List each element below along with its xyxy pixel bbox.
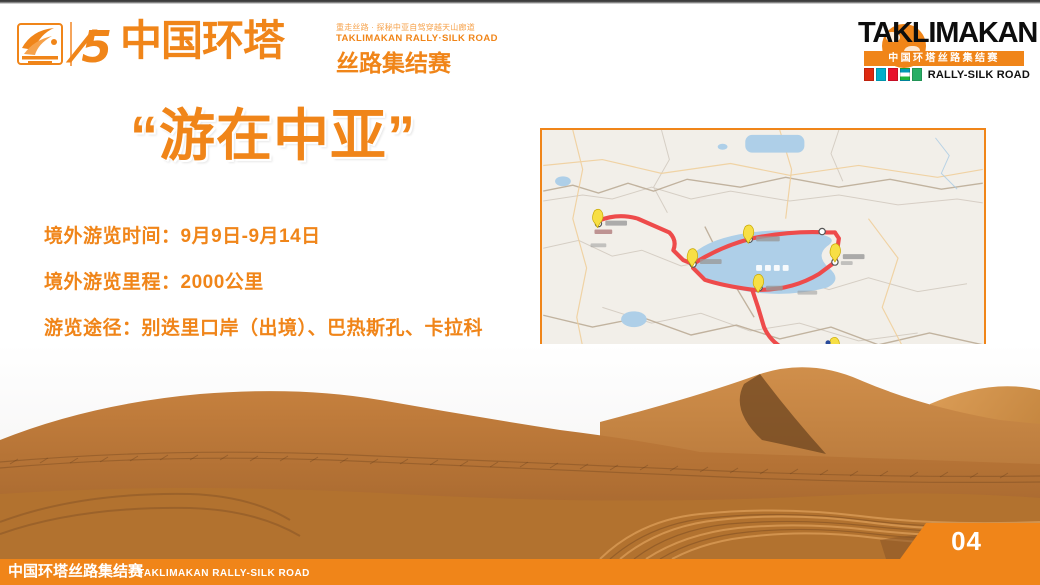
info-line-tour-distance: 境外游览里程：2000公里 bbox=[44, 260, 514, 306]
info-line-tour-dates: 境外游览时间：9月9日-9月14日 bbox=[44, 214, 514, 260]
page-title: “游在中亚” bbox=[130, 104, 416, 168]
slide-footer: 中国环塔丝路集结赛 TAKLIMAKAN RALLY-SILK ROAD bbox=[0, 559, 1040, 585]
flag-uzbekistan bbox=[900, 68, 910, 81]
taklimakan-corner-logo: TAKLIMAKAN 中国环塔丝路集结赛 RALLY-SILK ROAD bbox=[858, 16, 1030, 82]
flag-china bbox=[864, 68, 874, 81]
rally-shield-emblem-icon bbox=[14, 20, 66, 68]
corner-logo-bar: 中国环塔丝路集结赛 bbox=[864, 51, 1024, 66]
slide-header: ⁄5 中国环塔 重走丝路 · 探秘中亚自驾穿越天山廊道 TAKLIMAKAN R… bbox=[0, 4, 1040, 86]
flag-turkmenistan bbox=[912, 68, 922, 81]
wordmark-sub-text: 丝路集结赛 bbox=[336, 50, 451, 76]
desert-dunes-photo bbox=[0, 344, 1040, 559]
corner-logo-bar-text: 中国环塔丝路集结赛 bbox=[864, 51, 1024, 66]
wordmark-main-text: 中国环塔 bbox=[120, 18, 284, 64]
page-number: 04 bbox=[951, 527, 982, 555]
corner-logo-title: TAKLIMAKAN bbox=[858, 16, 1030, 50]
corner-logo-subtitle: RALLY-SILK ROAD bbox=[928, 69, 1030, 81]
header-divider bbox=[70, 22, 72, 66]
footer-brand-cn: 中国环塔丝路集结赛 bbox=[8, 562, 143, 582]
corner-logo-flags-row: RALLY-SILK ROAD bbox=[864, 68, 1030, 81]
wordmark-tagline-en: TAKLIMAKAN RALLY·SILK ROAD bbox=[336, 33, 498, 44]
flag-kazakhstan bbox=[876, 68, 886, 81]
flag-kyrgyzstan bbox=[888, 68, 898, 81]
slide-root: ⁄5 中国环塔 重走丝路 · 探秘中亚自驾穿越天山廊道 TAKLIMAKAN R… bbox=[0, 0, 1040, 585]
footer-brand-en: TAKLIMAKAN RALLY-SILK ROAD bbox=[138, 567, 310, 581]
wordmark-tagline-cn: 重走丝路 · 探秘中亚自驾穿越天山廊道 bbox=[336, 23, 475, 33]
wordmark-slash-mark: ⁄5 bbox=[78, 22, 108, 73]
